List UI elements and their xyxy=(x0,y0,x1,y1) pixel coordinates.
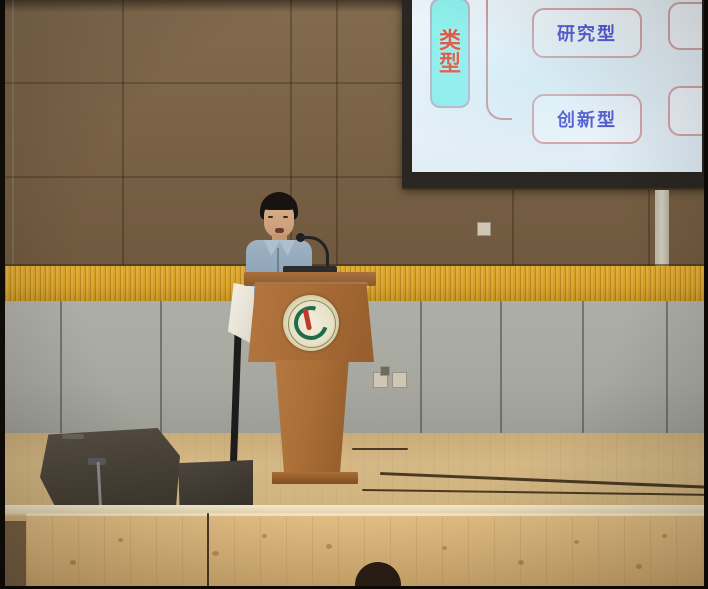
lectern-foot xyxy=(272,472,358,484)
wall-outlet-plate xyxy=(477,222,491,236)
projection-screen-surface: 类 型 研究型 创新型 xyxy=(412,0,702,172)
slide-box-partial xyxy=(668,86,702,136)
slide-category-char-1: 类 xyxy=(439,30,461,53)
slide-box-partial xyxy=(668,2,702,50)
wood-knot xyxy=(326,544,332,549)
wood-knot xyxy=(518,560,524,565)
wood-knot xyxy=(574,540,579,544)
wall-outlet-plate xyxy=(380,366,390,376)
wall-seam-horizontal xyxy=(0,82,408,84)
slide-box-innovation: 创新型 xyxy=(532,94,642,144)
presenter-eye-left xyxy=(268,216,273,218)
floor-cable xyxy=(352,448,408,450)
wainscot-seam xyxy=(500,301,502,435)
institution-seal xyxy=(283,295,339,351)
wall-seam-vertical xyxy=(648,190,650,268)
stage-monitor-handle xyxy=(62,434,84,439)
presenter-eye-right xyxy=(283,216,288,218)
slide-box-research: 研究型 xyxy=(532,8,642,58)
slide-category-char-2: 型 xyxy=(439,53,461,76)
wainscot-seam xyxy=(60,301,62,435)
wainscot-seam xyxy=(160,301,162,435)
wood-knot xyxy=(118,538,123,542)
lecture-hall-photo: 类 型 研究型 创新型 xyxy=(0,0,708,589)
wood-knot xyxy=(212,551,219,556)
wainscot-seam xyxy=(666,301,668,435)
projection-screen: 类 型 研究型 创新型 xyxy=(402,0,708,188)
wall-seam-vertical xyxy=(512,190,514,268)
presenter-mouth xyxy=(275,228,284,233)
slide-connector-line xyxy=(486,0,512,120)
wall-seam-horizontal xyxy=(0,176,408,178)
wood-knot xyxy=(662,534,667,538)
image-border-right xyxy=(704,0,708,589)
stage-front-cable xyxy=(207,513,209,589)
wainscot-seam xyxy=(420,301,422,435)
wall-outlet-plate xyxy=(392,372,407,388)
wall-seam-vertical xyxy=(122,0,124,268)
wood-knot xyxy=(442,546,447,550)
wall-seam-vertical xyxy=(12,0,14,268)
wall-column-strip xyxy=(655,190,669,268)
wainscot-seam xyxy=(582,301,584,435)
slide-category-tag: 类 型 xyxy=(430,0,470,108)
presenter-hair-fringe xyxy=(261,196,297,210)
wood-knot xyxy=(70,560,76,565)
image-border-left xyxy=(0,0,5,589)
wall-seam-vertical xyxy=(336,0,338,268)
wood-knot xyxy=(262,534,267,538)
wood-knot xyxy=(636,564,642,569)
stage-monitor-large xyxy=(40,428,180,510)
